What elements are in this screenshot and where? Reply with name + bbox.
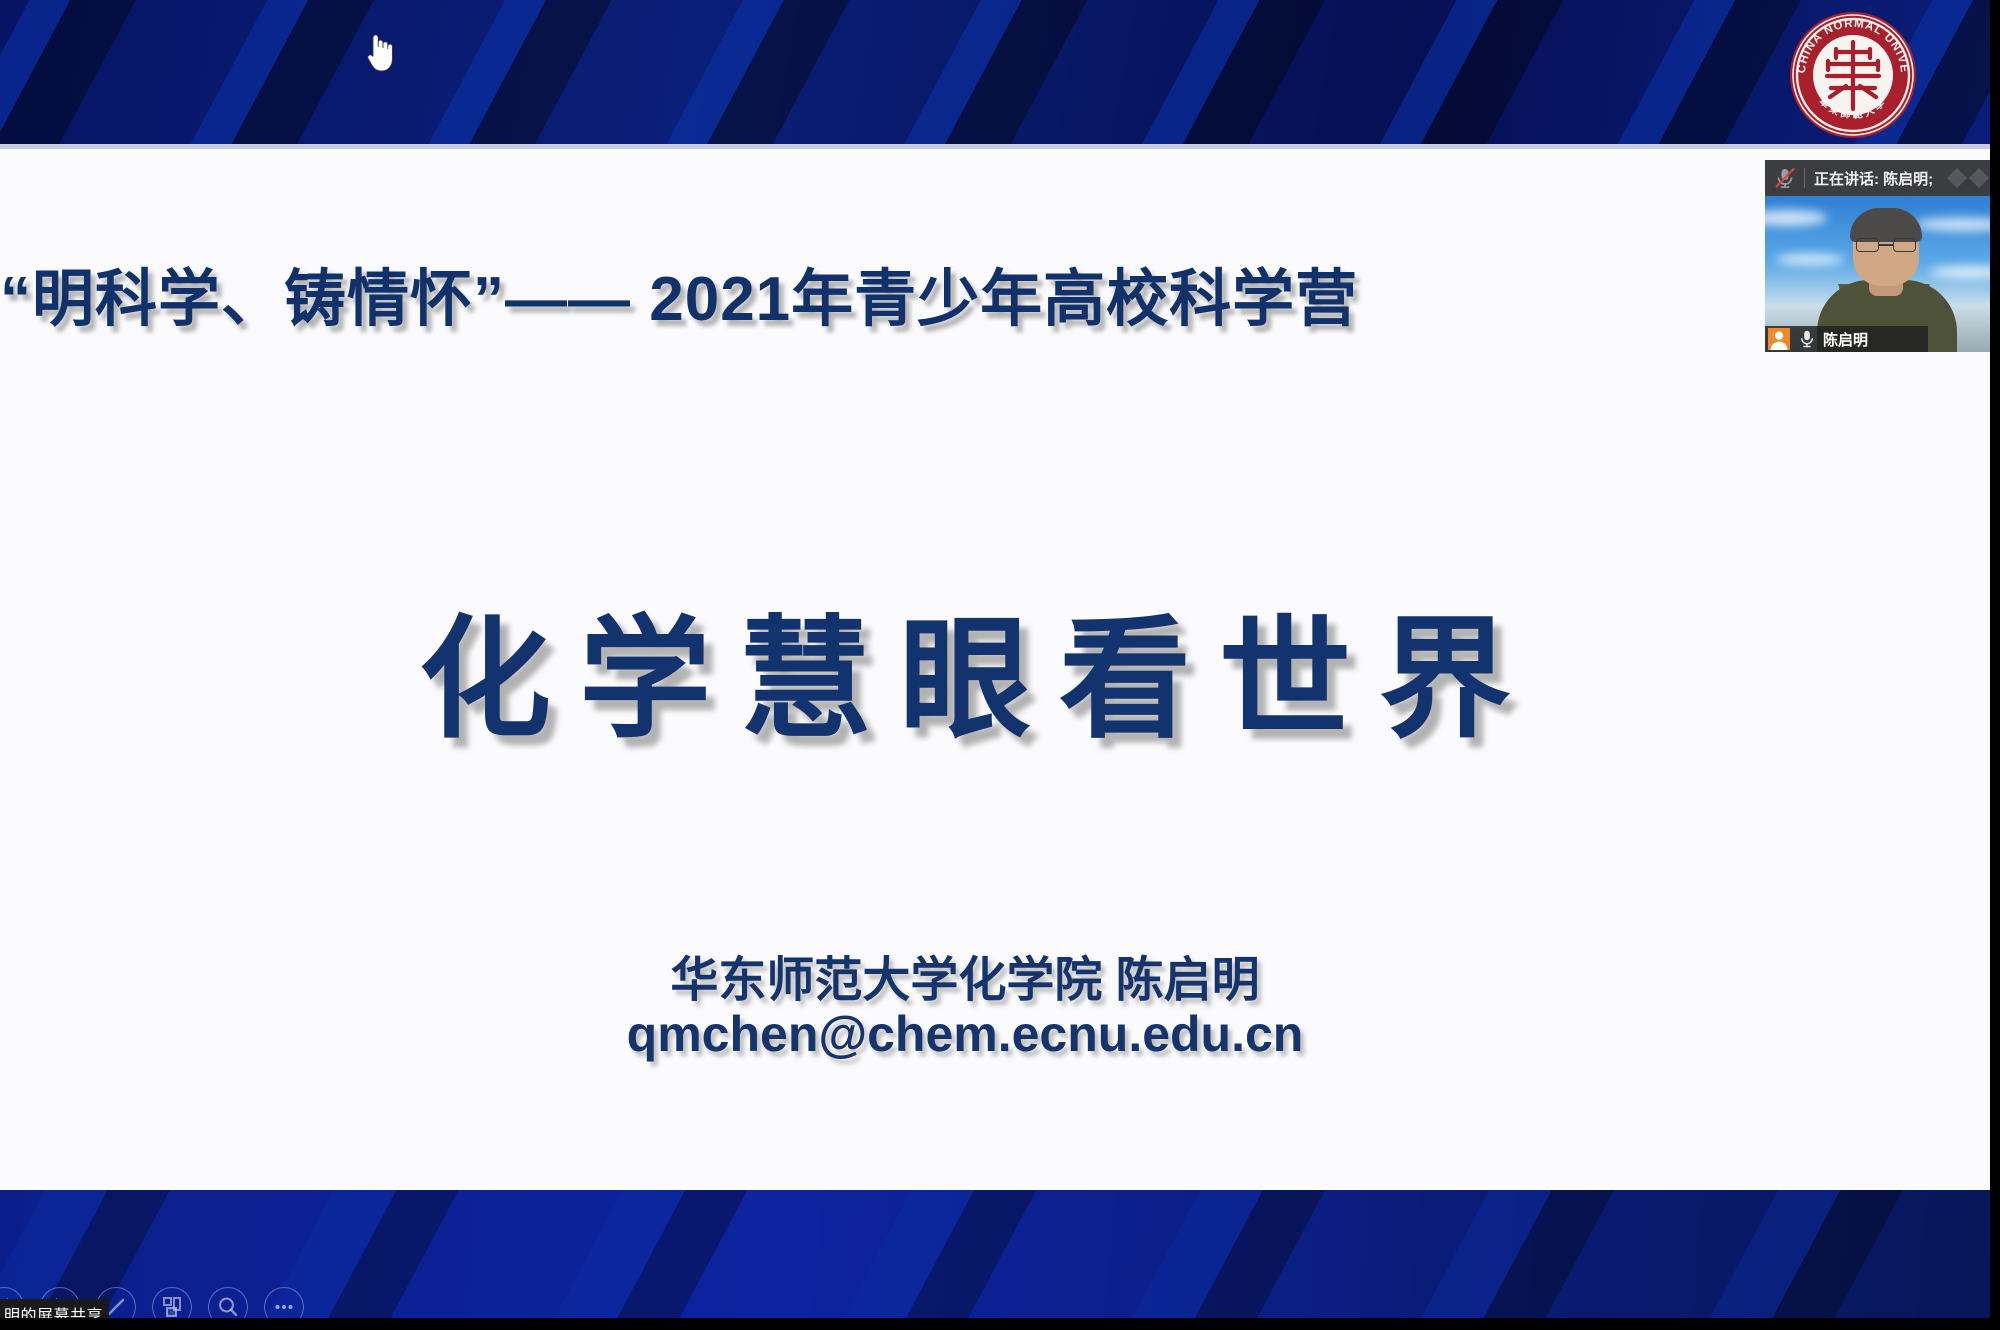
video-name-bar: 陈启明 [1765, 326, 1928, 352]
slide-top-banner [0, 0, 1990, 148]
presenter-video-panel[interactable]: 正在讲话: 陈启明; [1765, 160, 2000, 352]
slide-author: 华东师范大学化学院 陈启明 [0, 940, 1930, 1010]
viewport-bottom-gutter [0, 1318, 2000, 1330]
active-speaker-label: 正在讲话: 陈启明; [1814, 168, 1933, 189]
person-glasses [1856, 238, 1916, 252]
person-hair [1850, 208, 1922, 242]
header-divider [1804, 168, 1805, 188]
slide-email: qmchen@chem.ecnu.edu.cn [0, 1005, 1930, 1063]
slide-subtitle-line: “明科学、铸情怀”—— 2021年青少年高校科学营 [0, 248, 1340, 338]
slide-main-heading: 化学慧眼看世界 [0, 573, 1930, 764]
ecnu-logo: EAST CHINA NORMAL UNIVERSITY 華東師範大學 [1784, 6, 1922, 144]
video-panel-header: 正在讲话: 陈启明; [1765, 160, 2000, 196]
presentation-slide[interactable]: EAST CHINA NORMAL UNIVERSITY 華東師範大學 [0, 0, 1990, 1318]
microphone-muted-icon[interactable] [1772, 167, 1798, 189]
avatar-icon [1768, 328, 1790, 350]
cloud-decoration [1765, 210, 1827, 226]
viewport-right-gutter [1990, 0, 2000, 1330]
participant-name: 陈启明 [1823, 329, 1868, 350]
video-feed[interactable]: 陈启明 [1765, 196, 2000, 352]
slide-banner-divider [0, 144, 1990, 149]
screen-share-viewport: EAST CHINA NORMAL UNIVERSITY 華東師範大學 [0, 0, 2000, 1330]
microphone-icon[interactable] [1797, 329, 1817, 349]
cloud-decoration [1775, 254, 1845, 265]
cloud-decoration [1915, 218, 2000, 231]
